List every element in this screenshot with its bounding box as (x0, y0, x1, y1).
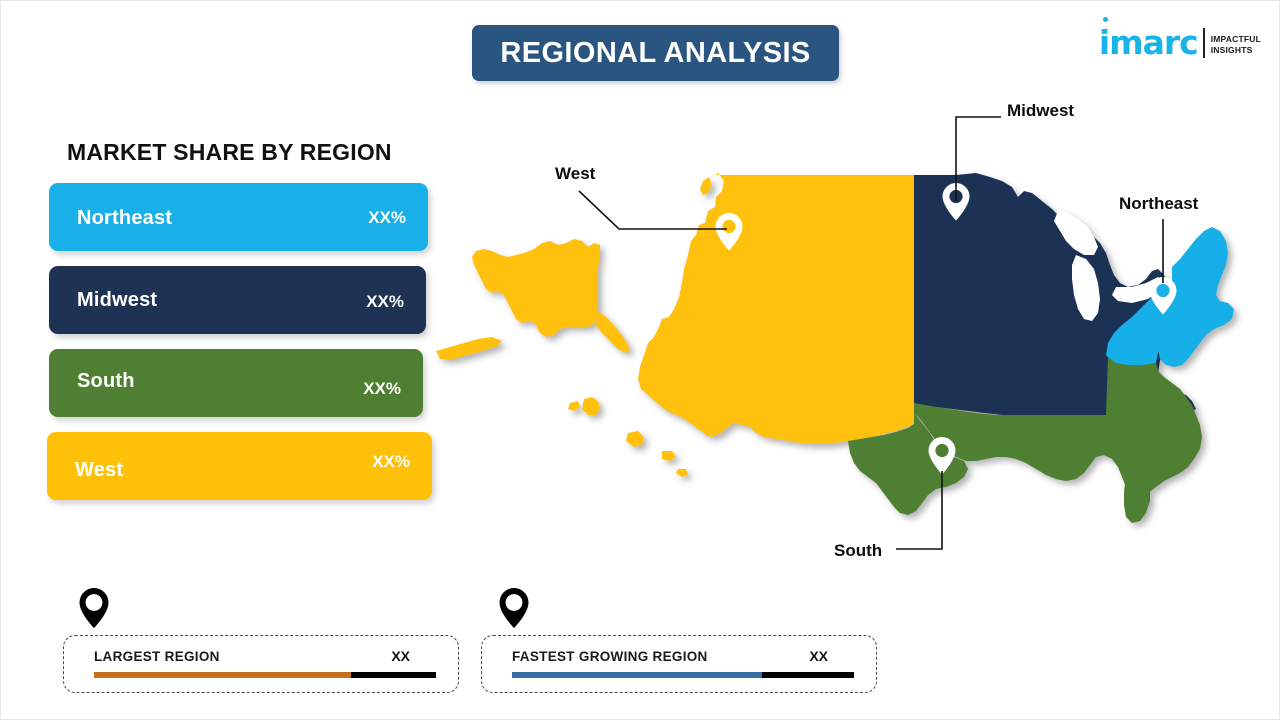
largest-region-pin-icon (77, 587, 111, 629)
fastest-growing-region-pin-icon (497, 587, 531, 629)
imarc-logo: imarc IMPACTFUL INSIGHTS (1099, 15, 1261, 59)
map-callout-south: South (834, 541, 882, 561)
logo-divider (1203, 28, 1205, 58)
fastest-growing-region-progress-fill (512, 672, 762, 678)
logo-tagline: IMPACTFUL INSIGHTS (1211, 34, 1261, 59)
region-bar-label: West (75, 459, 123, 482)
largest-region-progress-fill (94, 672, 351, 678)
fastest-growing-region-label: FASTEST GROWING REGION (512, 649, 708, 664)
fastest-growing-region-value: XX (809, 648, 854, 664)
largest-region-value: XX (391, 648, 436, 664)
region-bar-west[interactable]: West XX% (47, 432, 432, 500)
market-share-heading: MARKET SHARE BY REGION (67, 139, 392, 166)
region-bar-label: South (77, 370, 135, 393)
region-bar-label: Northeast (77, 207, 172, 230)
map-callout-midwest: Midwest (1007, 101, 1074, 121)
fastest-growing-region-row: FASTEST GROWING REGION XX (512, 648, 854, 664)
map-callout-northeast: Northeast (1119, 194, 1198, 214)
logo-tagline-line1: IMPACTFUL (1211, 34, 1261, 45)
map-svg (416, 151, 1280, 571)
region-bar-list: Northeast XX% Midwest XX% South XX% West… (49, 183, 439, 515)
fastest-growing-region-progress-track (512, 672, 854, 678)
page-title-badge: REGIONAL ANALYSIS (472, 25, 839, 81)
logo-wordmark-text: imarc (1099, 23, 1198, 62)
slide-canvas: REGIONAL ANALYSIS imarc IMPACTFUL INSIGH… (0, 0, 1280, 720)
page-title: REGIONAL ANALYSIS (500, 37, 810, 70)
largest-region-progress-track (94, 672, 436, 678)
region-bar-midwest[interactable]: Midwest XX% (49, 266, 426, 334)
logo-tagline-line2: INSIGHTS (1211, 45, 1261, 56)
map-region-west[interactable] (638, 173, 914, 444)
region-bar-value: XX% (366, 292, 404, 312)
map-callout-west: West (555, 164, 595, 184)
region-bar-value: XX% (372, 452, 410, 472)
us-regional-map[interactable] (416, 151, 1280, 571)
fastest-growing-region-card[interactable]: FASTEST GROWING REGION XX (481, 635, 877, 693)
region-bar-value: XX% (368, 208, 406, 228)
region-bar-value: XX% (363, 379, 401, 399)
map-region-west-coast-detail (700, 177, 712, 195)
region-bar-northeast[interactable]: Northeast XX% (49, 183, 428, 251)
region-bar-label: Midwest (77, 289, 157, 312)
map-region-alaska-aleutians (436, 337, 502, 359)
map-region-alaska-panhandle (596, 311, 630, 353)
region-bar-south[interactable]: South XX% (49, 349, 423, 417)
largest-region-label: LARGEST REGION (94, 649, 220, 664)
largest-region-card[interactable]: LARGEST REGION XX (63, 635, 459, 693)
largest-region-row: LARGEST REGION XX (94, 648, 436, 664)
map-region-alaska[interactable] (472, 239, 600, 337)
logo-wordmark: imarc (1099, 26, 1198, 59)
logo-dot-icon (1103, 17, 1108, 22)
